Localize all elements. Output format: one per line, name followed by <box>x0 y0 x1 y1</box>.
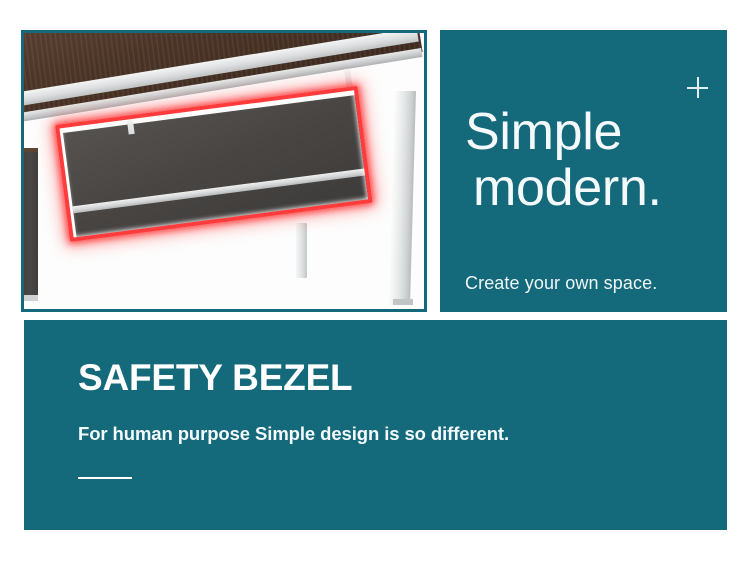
banner-subtitle: For human purpose Simple design is so di… <box>78 423 509 445</box>
product-illustration <box>24 33 424 309</box>
desk-right-leg <box>389 91 416 305</box>
desk-center-support-leg <box>296 223 307 278</box>
adjacent-desk-panel <box>24 151 38 299</box>
banner-divider-rule <box>78 477 132 479</box>
adjacent-desk-panel-cap <box>24 148 38 152</box>
hero-subtitle: Create your own space. <box>465 273 657 294</box>
hero-title-line1: Simple <box>465 103 622 161</box>
product-image-card[interactable] <box>21 30 427 312</box>
banner-title: SAFETY BEZEL <box>78 357 352 399</box>
desk-right-leg-foot <box>393 299 413 305</box>
hero-title: Simple modern. <box>465 104 715 216</box>
hero-panel: Simple modern. Create your own space. <box>440 30 727 312</box>
banner-panel: SAFETY BEZEL For human purpose Simple de… <box>24 320 727 530</box>
safety-bezel-highlight <box>55 86 373 242</box>
hero-title-line2: modern. <box>465 160 715 216</box>
plus-icon[interactable] <box>687 77 708 98</box>
adjacent-desk-panel-foot <box>24 295 38 301</box>
